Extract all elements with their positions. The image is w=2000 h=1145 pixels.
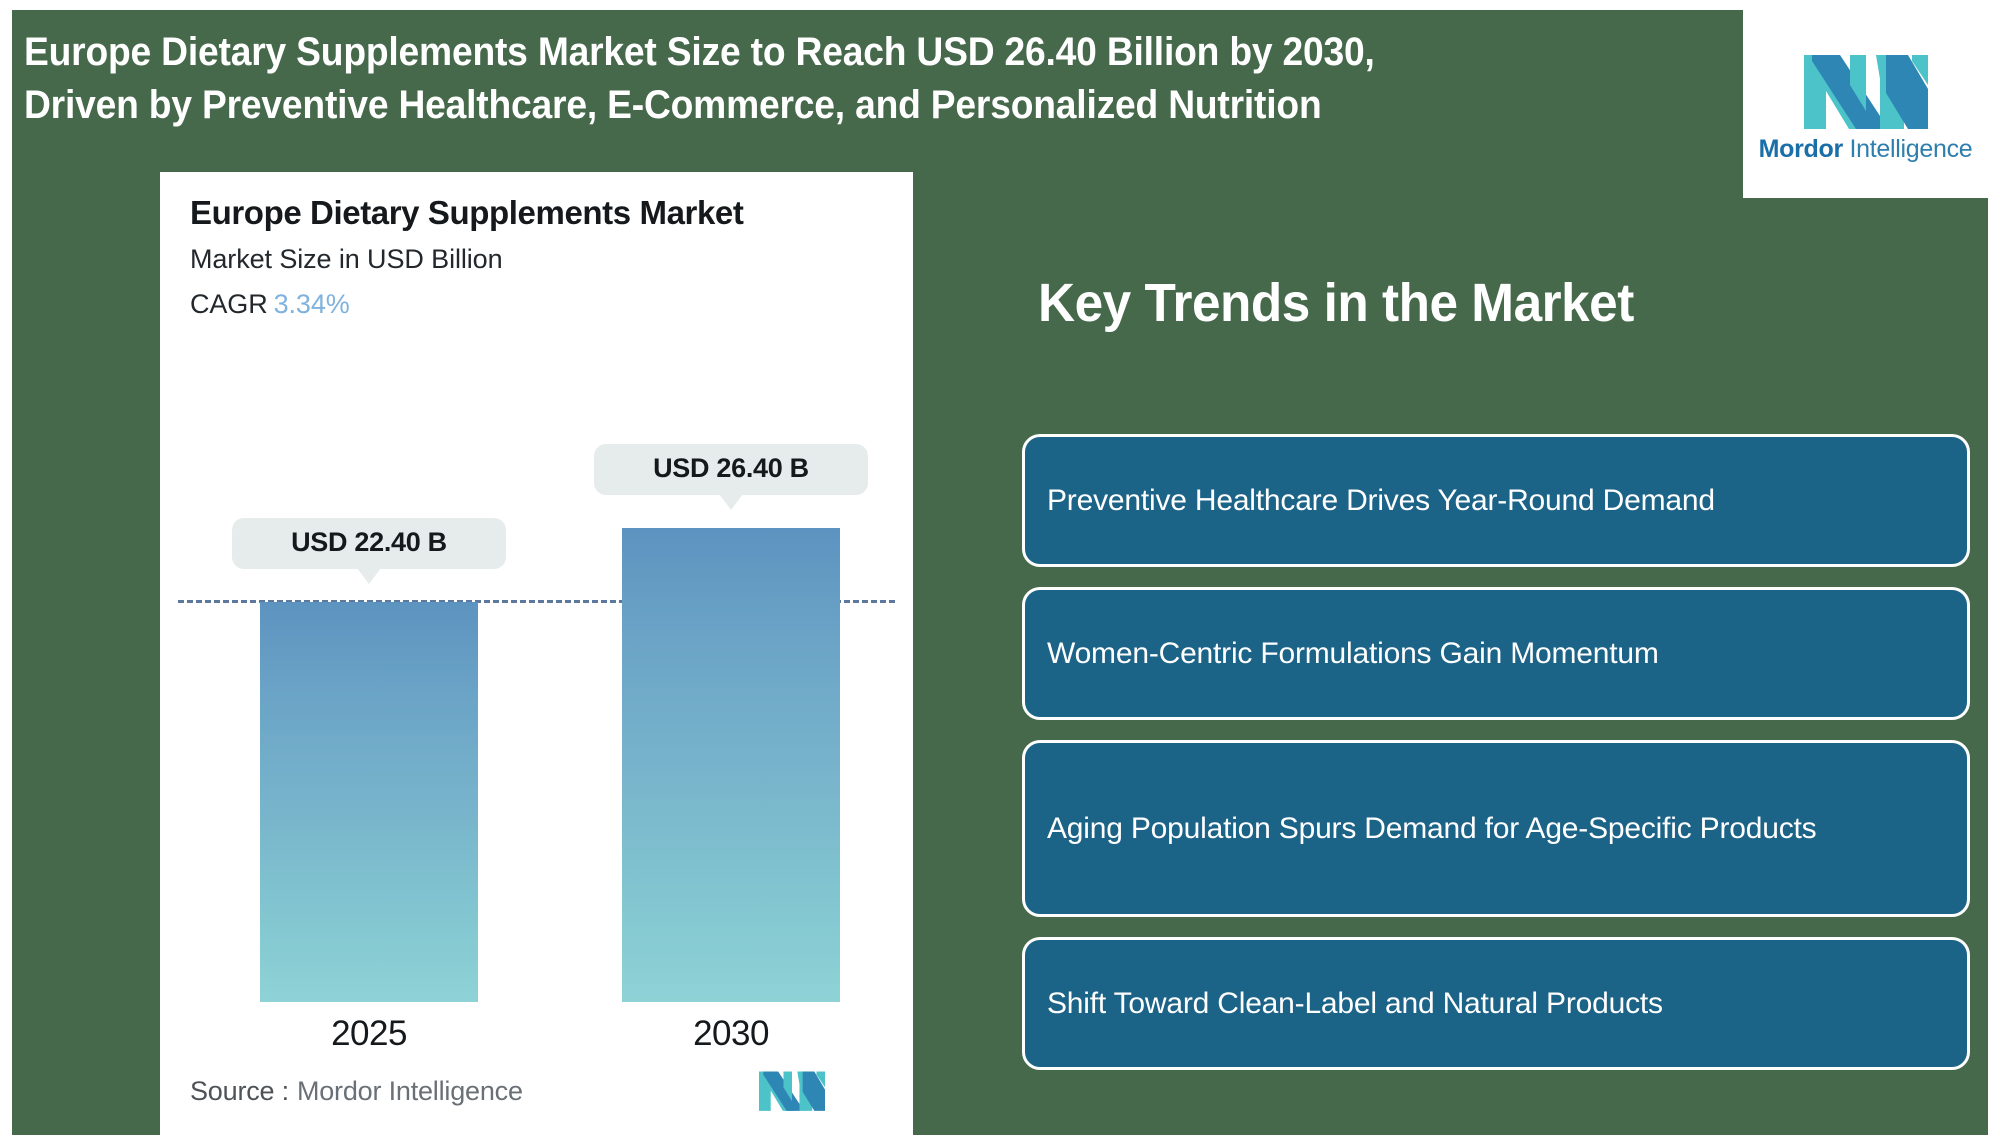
value-callout-2030: USD 26.40 B: [594, 444, 868, 495]
x-axis-label-2025: 2025: [260, 1014, 478, 1054]
source-value: Mordor Intelligence: [289, 1076, 523, 1106]
chart-cagr: CAGR3.34%: [190, 289, 350, 320]
x-axis-label-2030: 2030: [622, 1014, 840, 1054]
key-trend-item-4[interactable]: Shift Toward Clean-Label and Natural Pro…: [1022, 937, 1970, 1070]
key-trend-label-3: Aging Population Spurs Demand for Age-Sp…: [1047, 808, 1816, 850]
brand-wordmark: Mordor Intelligence: [1759, 135, 1973, 164]
key-trend-item-1[interactable]: Preventive Healthcare Drives Year-Round …: [1022, 434, 1970, 567]
bar-2030[interactable]: [622, 528, 840, 1002]
key-trend-label-2: Women-Centric Formulations Gain Momentum: [1047, 633, 1659, 675]
key-trend-label-1: Preventive Healthcare Drives Year-Round …: [1047, 480, 1715, 522]
infographic-root: Europe Dietary Supplements Market Size t…: [0, 0, 2000, 1145]
chart-card-logo-icon: [759, 1066, 825, 1111]
chart-source: Source :Mordor Intelligence: [190, 1076, 523, 1107]
brand-name-light: Intelligence: [1850, 135, 1973, 163]
source-label: Source :: [190, 1076, 289, 1106]
page-title-line-2: Driven by Preventive Healthcare, E-Comme…: [24, 79, 1605, 132]
mordor-intelligence-logo-icon: [1804, 45, 1928, 129]
bar-2025[interactable]: [260, 602, 478, 1002]
frame-border-left: [0, 0, 12, 1145]
cagr-label: CAGR: [190, 289, 268, 319]
chart-title: Europe Dietary Supplements Market: [190, 194, 743, 232]
key-trends-heading: Key Trends in the Market: [1038, 272, 1634, 334]
frame-border-top: [0, 0, 2000, 10]
cagr-value: 3.34%: [268, 289, 350, 319]
chart-card: Europe Dietary Supplements Market Market…: [160, 172, 913, 1145]
key-trend-item-2[interactable]: Women-Centric Formulations Gain Momentum: [1022, 587, 1970, 720]
key-trends-list: Preventive Healthcare Drives Year-Round …: [1022, 434, 1970, 1090]
frame-border-right: [1988, 0, 2000, 1145]
chart-plot-area: USD 22.40 B USD 26.40 B 2025 2030: [160, 322, 913, 1002]
brand-logo-panel: Mordor Intelligence: [1743, 10, 1988, 198]
chart-subtitle: Market Size in USD Billion: [190, 244, 503, 275]
key-trend-item-3[interactable]: Aging Population Spurs Demand for Age-Sp…: [1022, 740, 1970, 917]
key-trend-label-4: Shift Toward Clean-Label and Natural Pro…: [1047, 983, 1663, 1025]
page-title: Europe Dietary Supplements Market Size t…: [24, 26, 1605, 132]
page-title-line-1: Europe Dietary Supplements Market Size t…: [24, 26, 1605, 79]
brand-name-bold: Mordor: [1759, 135, 1843, 163]
value-callout-2025: USD 22.40 B: [232, 518, 506, 569]
